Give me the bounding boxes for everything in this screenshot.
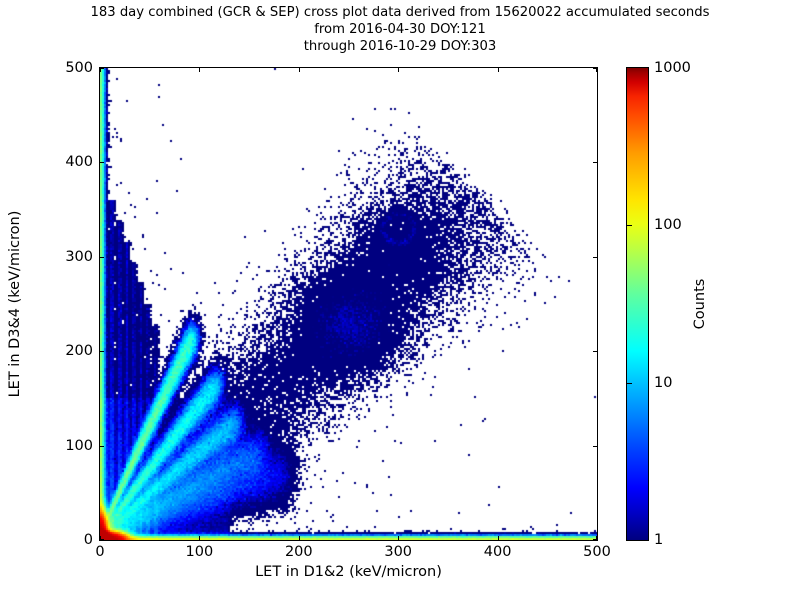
chart-title-line-1: 183 day combined (GCR & SEP) cross plot … (0, 4, 800, 21)
x-tick-label: 200 (285, 544, 313, 560)
y-tick-label: 0 (45, 532, 93, 548)
colorbar-tick (627, 225, 632, 226)
colorbar-tick-label: 100 (654, 217, 682, 233)
y-tick-label: 500 (45, 60, 93, 76)
y-axis-tick (593, 68, 597, 69)
y-axis-tick (100, 162, 104, 163)
chart-title-line-2: from 2016-04-30 DOY:121 (0, 21, 800, 38)
x-axis-label: LET in D1&2 (keV/micron) (99, 564, 598, 580)
y-axis-tick (100, 351, 104, 352)
y-axis-tick (100, 539, 104, 540)
y-axis-tick (593, 351, 597, 352)
x-axis-tick (299, 536, 300, 540)
x-tick-label: 0 (95, 544, 104, 560)
x-tick-label: 300 (384, 544, 412, 560)
colorbar-tick (627, 383, 632, 384)
y-tick-label: 200 (45, 343, 93, 359)
colorbar-tick-label: 10 (654, 375, 672, 391)
x-axis-tick (498, 68, 499, 72)
colorbar-tick-label: 1 (654, 532, 663, 548)
x-axis-tick (498, 536, 499, 540)
x-tick-label: 100 (186, 544, 214, 560)
colorbar-tick-label: 1000 (654, 60, 691, 76)
heatmap-scatter-layer (100, 68, 597, 540)
y-axis-tick (593, 162, 597, 163)
x-axis-tick (398, 536, 399, 540)
x-axis-tick (398, 68, 399, 72)
chart-title: 183 day combined (GCR & SEP) cross plot … (0, 4, 800, 55)
y-axis-tick (100, 257, 104, 258)
colorbar (626, 67, 649, 541)
plot-axes (99, 67, 598, 541)
x-axis-tick (299, 68, 300, 72)
y-axis-tick (593, 446, 597, 447)
y-tick-label: 300 (45, 249, 93, 265)
chart-title-line-3: through 2016-10-29 DOY:303 (0, 38, 800, 55)
x-axis-tick (199, 68, 200, 72)
y-tick-label: 100 (45, 438, 93, 454)
y-axis-tick (100, 68, 104, 69)
y-tick-label: 400 (45, 154, 93, 170)
x-tick-label: 500 (583, 544, 611, 560)
figure-canvas: 183 day combined (GCR & SEP) cross plot … (0, 0, 800, 600)
y-axis-tick (593, 257, 597, 258)
x-tick-label: 400 (484, 544, 512, 560)
colorbar-label: Counts (688, 67, 712, 541)
x-axis-tick (199, 536, 200, 540)
y-axis-label: LET in D3&4 (keV/micron) (0, 67, 30, 541)
y-axis-tick (100, 446, 104, 447)
y-axis-tick (593, 539, 597, 540)
